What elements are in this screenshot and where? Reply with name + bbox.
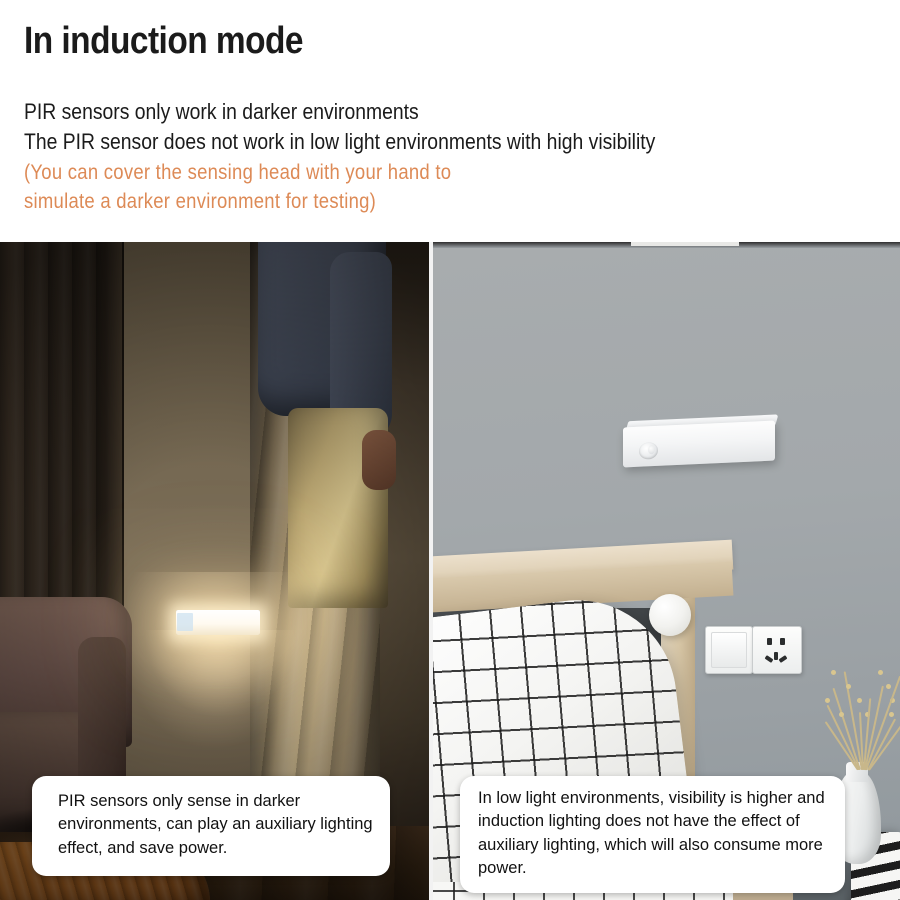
led-bar-unlit xyxy=(623,415,775,468)
socket-hole xyxy=(774,652,778,660)
note-line-1: (You can cover the sensing head with you… xyxy=(24,161,451,185)
socket-hole xyxy=(767,638,772,645)
wall-socket-plate[interactable] xyxy=(752,626,802,674)
description-line-1: PIR sensors only work in darker environm… xyxy=(24,99,419,125)
ceiling-highlight xyxy=(631,242,739,246)
socket-hole xyxy=(780,638,785,645)
flower-bud xyxy=(878,670,883,675)
pom-pom-icon xyxy=(649,594,691,636)
led-sensor-dome-icon xyxy=(177,613,193,631)
flower-bud xyxy=(857,698,862,703)
socket-hole xyxy=(765,655,774,663)
caption-left: PIR sensors only sense in darker environ… xyxy=(32,776,390,876)
socket-hole xyxy=(779,655,788,663)
wall-switch-rocker[interactable] xyxy=(711,632,747,668)
page-title: In induction mode xyxy=(24,20,303,63)
wall-switch-plate[interactable] xyxy=(705,626,753,674)
caption-right: In low light environments, visibility is… xyxy=(460,776,845,893)
note-line-2: simulate a darker environment for testin… xyxy=(24,190,376,214)
person-hand xyxy=(362,430,396,490)
photo-divider xyxy=(429,242,433,900)
product-infographic-page: In induction mode PIR sensors only work … xyxy=(0,0,900,900)
header-text-block: In induction mode PIR sensors only work … xyxy=(0,0,900,242)
flower-bud xyxy=(886,684,891,689)
description-line-2: The PIR sensor does not work in low ligh… xyxy=(24,129,655,155)
